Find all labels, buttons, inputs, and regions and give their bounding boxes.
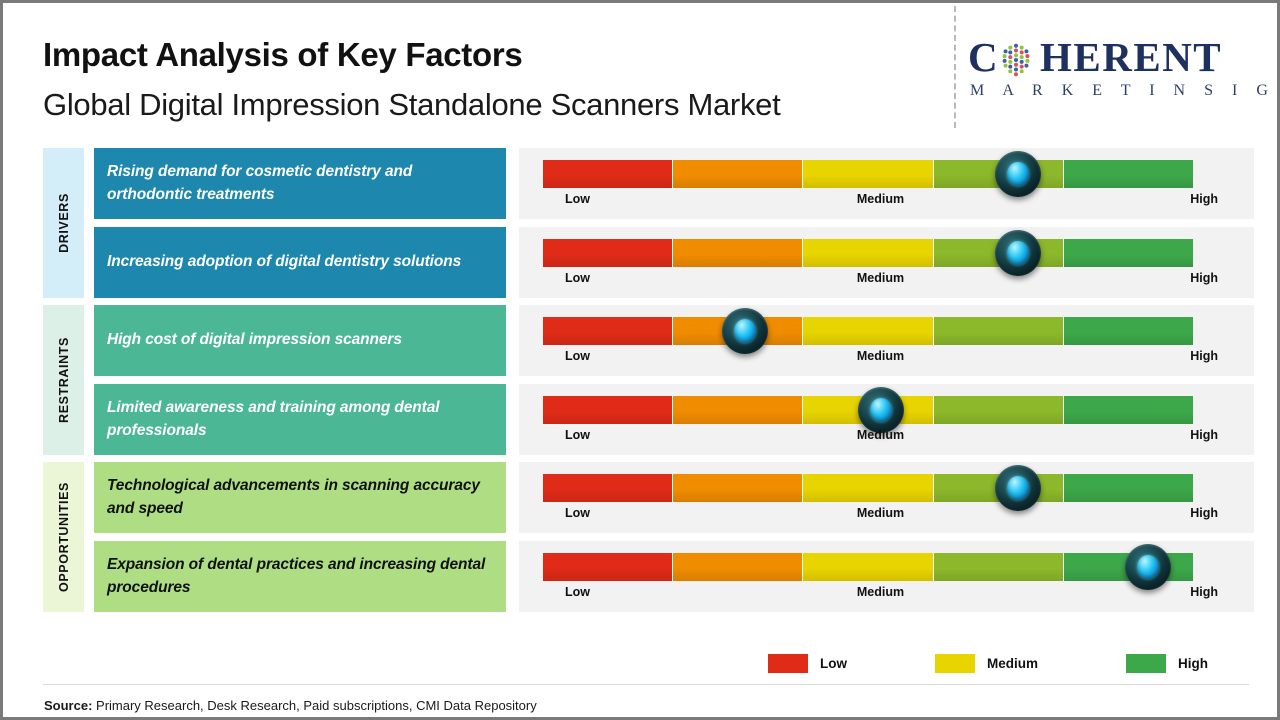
gauge-bar xyxy=(543,160,1193,188)
category-label: OPPORTUNITIES xyxy=(57,482,71,592)
gauge-segment-3 xyxy=(802,317,932,345)
gauge-label-medium: Medium xyxy=(543,428,1218,442)
page-title: Impact Analysis of Key Factors xyxy=(43,36,522,74)
impact-marker[interactable] xyxy=(995,230,1041,276)
logo-letters-herent: HERENT xyxy=(1040,34,1222,80)
gauge-segment-5 xyxy=(1063,396,1193,424)
impact-gauge: LowMediumHigh xyxy=(519,305,1254,376)
factor-box: Technological advancements in scanning a… xyxy=(94,462,506,533)
gauge-axis-labels: LowMediumHigh xyxy=(543,271,1218,291)
gauge-segment-4 xyxy=(933,317,1063,345)
gauge-label-high: High xyxy=(1190,585,1218,599)
impact-gauge: LowMediumHigh xyxy=(519,148,1254,219)
gauge-segment-1 xyxy=(543,317,672,345)
gauge-segment-1 xyxy=(543,553,672,581)
impact-gauge: LowMediumHigh xyxy=(519,541,1254,612)
factor-box: Expansion of dental practices and increa… xyxy=(94,541,506,612)
legend-item: Low xyxy=(768,654,847,673)
header-divider xyxy=(954,6,956,128)
legend-label: Medium xyxy=(987,656,1038,671)
logo-tagline: M A R K E T I N S I G H T S xyxy=(970,82,1274,100)
factor-box: Rising demand for cosmetic dentistry and… xyxy=(94,148,506,219)
gauge-axis-labels: LowMediumHigh xyxy=(543,349,1218,369)
source-note: Source: Primary Research, Desk Research,… xyxy=(44,698,537,713)
globe-icon xyxy=(997,40,1035,78)
gauge-segment-2 xyxy=(672,396,802,424)
gauge-segment-1 xyxy=(543,160,672,188)
page-subtitle: Global Digital Impression Standalone Sca… xyxy=(43,87,780,123)
category-label: RESTRAINTS xyxy=(57,337,71,423)
gauge-segment-1 xyxy=(543,239,672,267)
factor-label: Expansion of dental practices and increa… xyxy=(107,554,493,599)
factor-label: Technological advancements in scanning a… xyxy=(107,475,493,520)
gauge-axis-labels: LowMediumHigh xyxy=(543,585,1218,605)
gauge-bar xyxy=(543,239,1193,267)
gauge-segment-5 xyxy=(1063,160,1193,188)
factor-box: Increasing adoption of digital dentistry… xyxy=(94,227,506,298)
gauge-segment-3 xyxy=(802,239,932,267)
source-text: Primary Research, Desk Research, Paid su… xyxy=(92,698,536,713)
gauge-segment-1 xyxy=(543,474,672,502)
legend-label: Low xyxy=(820,656,847,671)
factor-box: Limited awareness and training among den… xyxy=(94,384,506,455)
impact-marker[interactable] xyxy=(722,308,768,354)
impact-marker[interactable] xyxy=(858,387,904,433)
impact-marker[interactable] xyxy=(995,465,1041,511)
legend: LowMediumHigh xyxy=(768,651,1208,675)
source-label: Source: xyxy=(44,698,92,713)
gauge-label-medium: Medium xyxy=(543,585,1218,599)
factor-label: Increasing adoption of digital dentistry… xyxy=(107,251,461,273)
gauge-segment-3 xyxy=(802,474,932,502)
footer-divider xyxy=(43,684,1249,685)
gauge-label-medium: Medium xyxy=(543,349,1218,363)
legend-label: High xyxy=(1178,656,1208,671)
gauge-label-high: High xyxy=(1190,428,1218,442)
legend-swatch xyxy=(1126,654,1166,673)
slide-inner: Impact Analysis of Key Factors Global Di… xyxy=(6,6,1274,714)
category-label: DRIVERS xyxy=(57,193,71,253)
gauge-segment-2 xyxy=(672,160,802,188)
slide: Impact Analysis of Key Factors Global Di… xyxy=(0,0,1280,720)
gauge-bar xyxy=(543,317,1193,345)
gauge-segment-1 xyxy=(543,396,672,424)
gauge-segment-5 xyxy=(1063,474,1193,502)
impact-gauge: LowMediumHigh xyxy=(519,227,1254,298)
gauge-segment-5 xyxy=(1063,317,1193,345)
category-strip-restraints: RESTRAINTS xyxy=(43,305,84,455)
impact-gauge: LowMediumHigh xyxy=(519,384,1254,455)
gauge-label-high: High xyxy=(1190,192,1218,206)
factor-box: High cost of digital impression scanners xyxy=(94,305,506,376)
logo-letter-c: C xyxy=(968,34,999,80)
gauge-segment-2 xyxy=(672,474,802,502)
category-strip-drivers: DRIVERS xyxy=(43,148,84,298)
factor-label: Rising demand for cosmetic dentistry and… xyxy=(107,161,493,206)
legend-item: Medium xyxy=(935,654,1038,673)
gauge-segment-3 xyxy=(802,553,932,581)
gauge-bar xyxy=(543,474,1193,502)
legend-swatch xyxy=(768,654,808,673)
gauge-segment-5 xyxy=(1063,239,1193,267)
gauge-label-high: High xyxy=(1190,506,1218,520)
gauge-segment-2 xyxy=(672,239,802,267)
legend-swatch xyxy=(935,654,975,673)
impact-marker[interactable] xyxy=(1125,544,1171,590)
impact-marker[interactable] xyxy=(995,151,1041,197)
factor-label: Limited awareness and training among den… xyxy=(107,397,493,442)
gauge-axis-labels: LowMediumHigh xyxy=(543,192,1218,212)
legend-item: High xyxy=(1126,654,1208,673)
gauge-label-medium: Medium xyxy=(543,192,1218,206)
impact-gauge: LowMediumHigh xyxy=(519,462,1254,533)
gauge-axis-labels: LowMediumHigh xyxy=(543,506,1218,526)
factor-label: High cost of digital impression scanners xyxy=(107,329,402,351)
gauge-label-high: High xyxy=(1190,349,1218,363)
coherent-market-insights-logo: C HERENT xyxy=(968,34,1268,106)
gauge-axis-labels: LowMediumHigh xyxy=(543,428,1218,448)
gauge-bar xyxy=(543,553,1193,581)
gauge-segment-4 xyxy=(933,396,1063,424)
gauge-label-medium: Medium xyxy=(543,271,1218,285)
gauge-segment-4 xyxy=(933,553,1063,581)
gauge-segment-3 xyxy=(802,160,932,188)
gauge-label-high: High xyxy=(1190,271,1218,285)
gauge-segment-2 xyxy=(672,553,802,581)
gauge-label-medium: Medium xyxy=(543,506,1218,520)
category-strip-opportunities: OPPORTUNITIES xyxy=(43,462,84,612)
